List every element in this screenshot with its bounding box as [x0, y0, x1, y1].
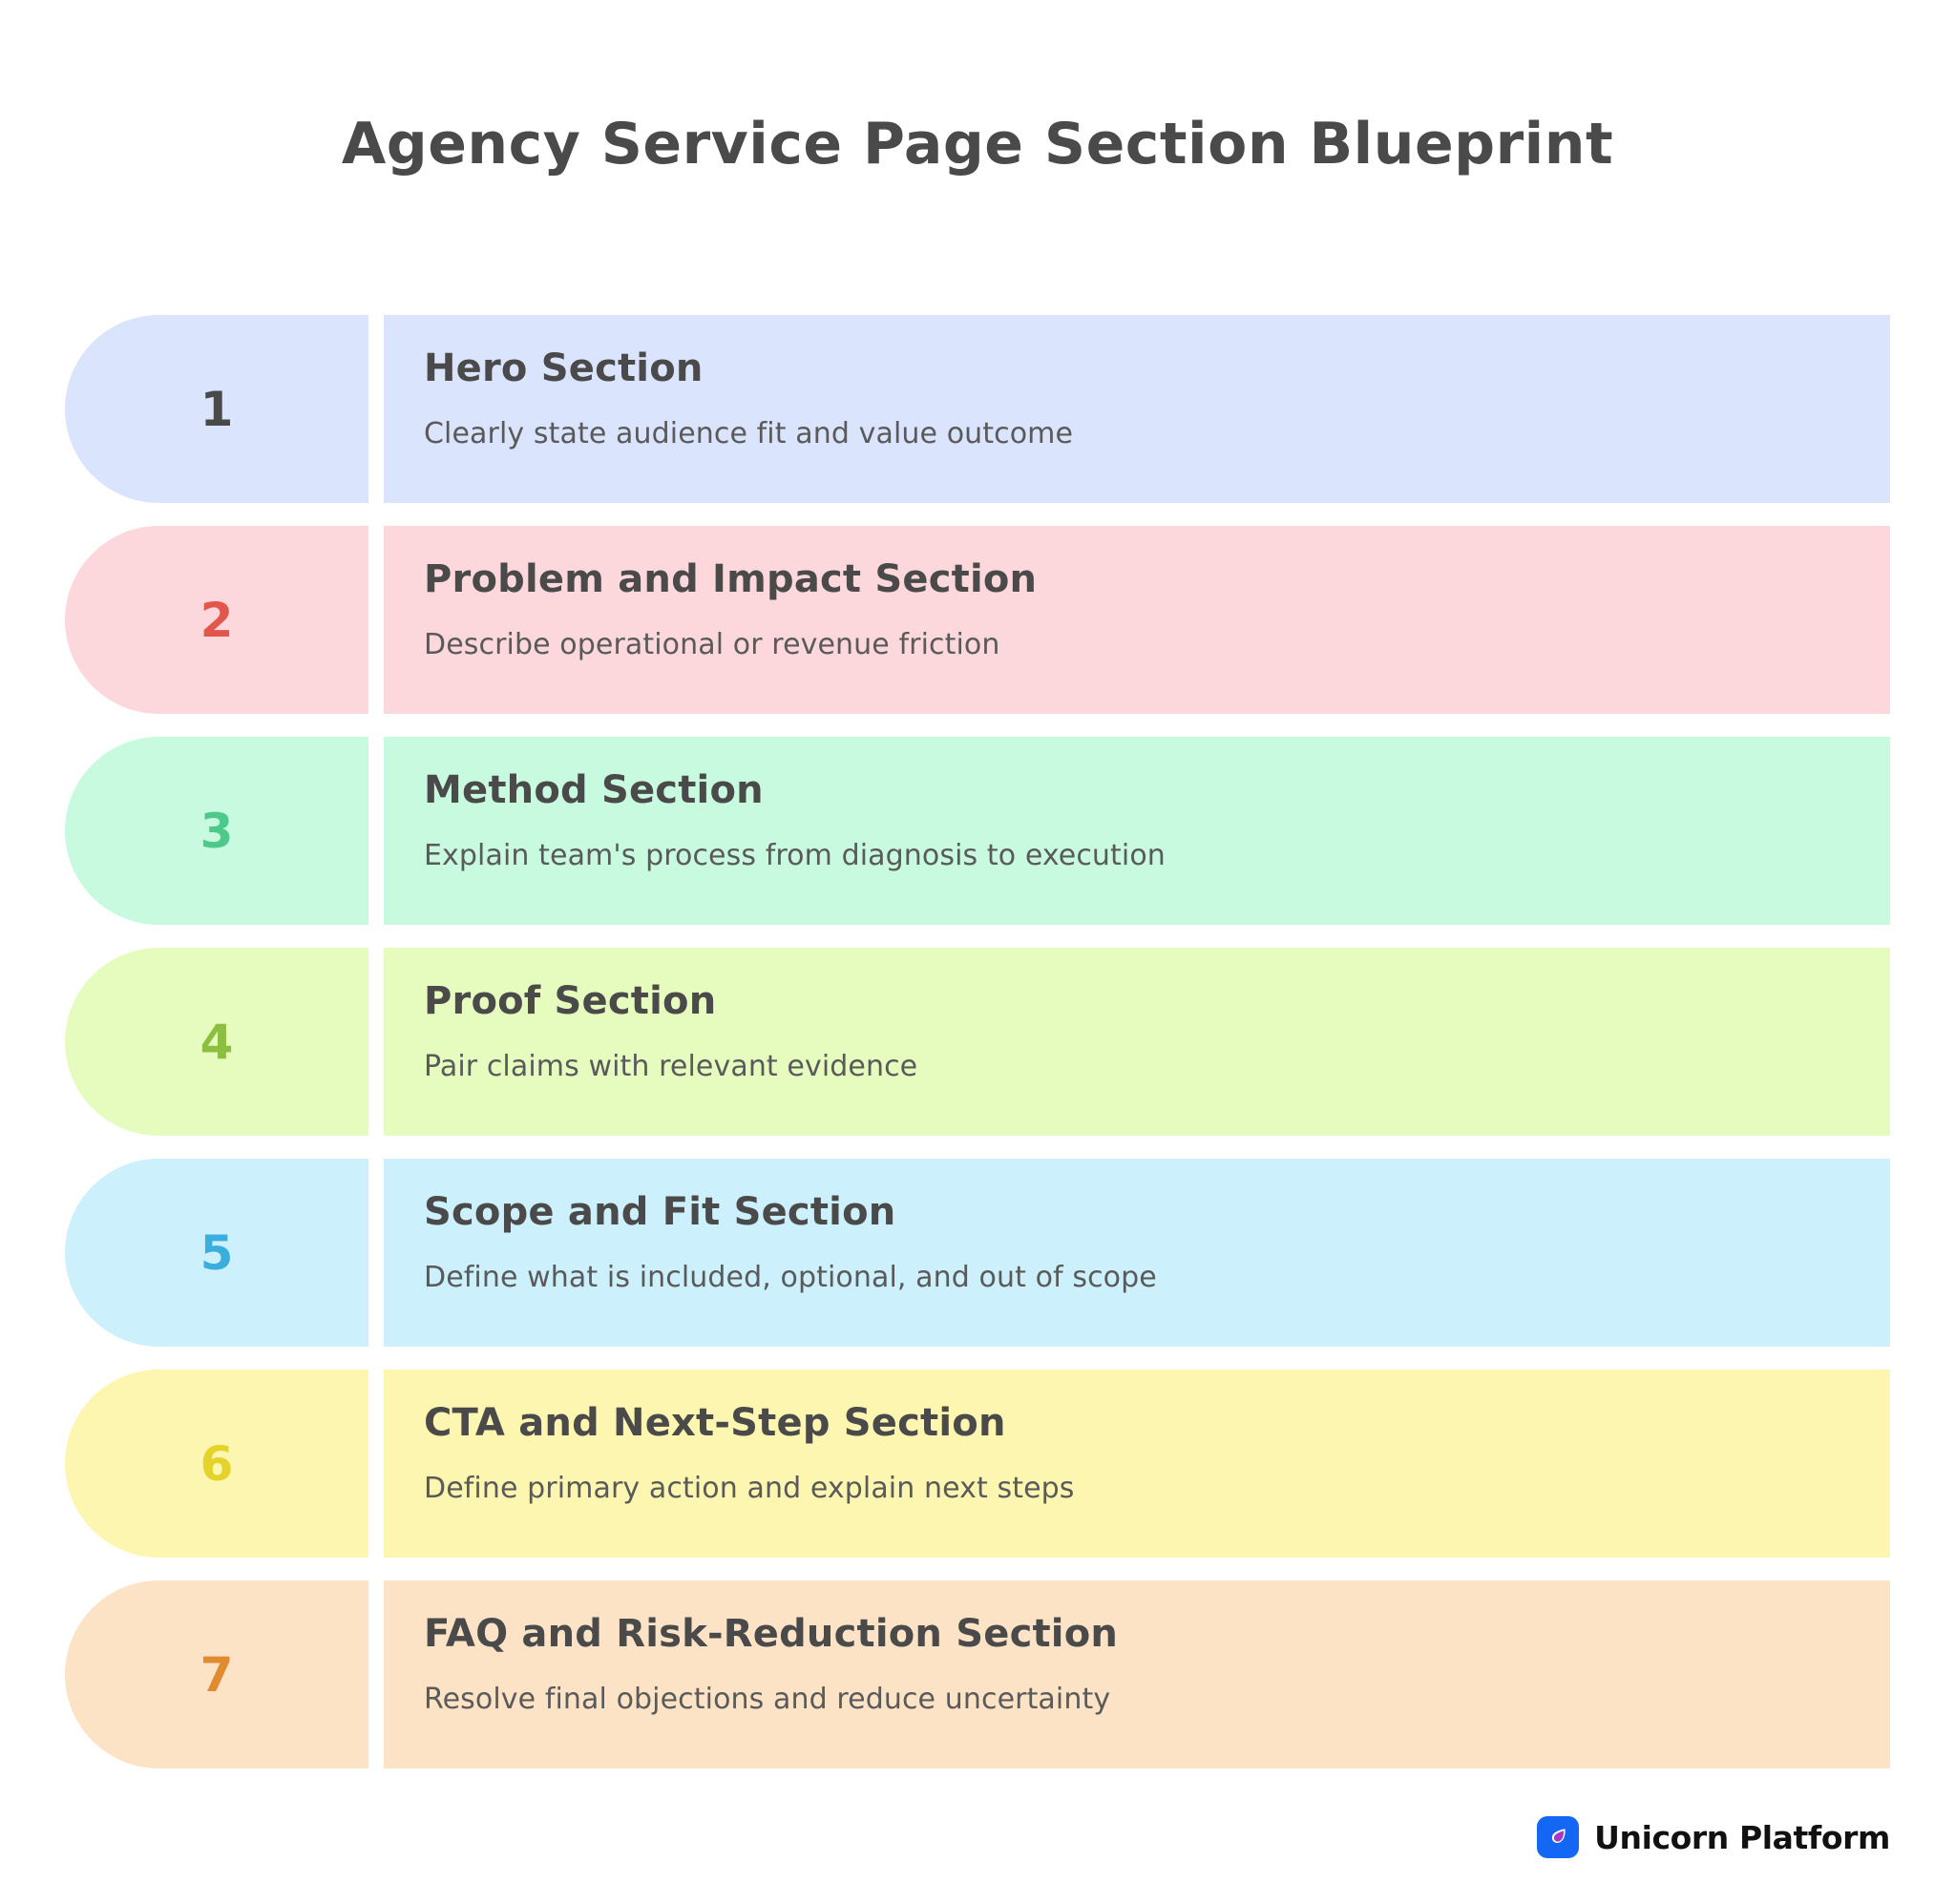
step-number-badge: 7: [65, 1580, 368, 1768]
row-divider: [368, 1159, 384, 1347]
step-number-label: 2: [200, 596, 234, 644]
row-divider: [368, 1580, 384, 1768]
step-content-panel: Problem and Impact SectionDescribe opera…: [384, 526, 1890, 714]
step-title: Hero Section: [424, 345, 1890, 391]
step-number-badge: 6: [65, 1370, 368, 1558]
step-title: Method Section: [424, 767, 1890, 813]
row-divider: [368, 737, 384, 925]
step-number-label: 5: [200, 1229, 234, 1277]
step-number-badge: 2: [65, 526, 368, 714]
step-description: Explain team's process from diagnosis to…: [424, 838, 1890, 874]
brand-name-label: Unicorn Platform: [1594, 1819, 1890, 1856]
step-number-label: 7: [200, 1651, 234, 1699]
blueprint-step-row: 6CTA and Next-Step SectionDefine primary…: [65, 1370, 1890, 1558]
step-title: Proof Section: [424, 978, 1890, 1024]
step-number-label: 3: [200, 807, 234, 855]
step-content-panel: Scope and Fit SectionDefine what is incl…: [384, 1159, 1890, 1347]
step-description: Describe operational or revenue friction: [424, 627, 1890, 663]
blueprint-step-row: 3Method SectionExplain team's process fr…: [65, 737, 1890, 925]
blueprint-step-row: 5Scope and Fit SectionDefine what is inc…: [65, 1159, 1890, 1347]
blueprint-step-row: 7FAQ and Risk-Reduction SectionResolve f…: [65, 1580, 1890, 1768]
blueprint-step-row: 4Proof SectionPair claims with relevant …: [65, 948, 1890, 1136]
page-title-container: Agency Service Page Section Blueprint: [0, 113, 1955, 176]
step-content-panel: FAQ and Risk-Reduction SectionResolve fi…: [384, 1580, 1890, 1768]
step-description: Define primary action and explain next s…: [424, 1471, 1890, 1507]
step-content-panel: CTA and Next-Step SectionDefine primary …: [384, 1370, 1890, 1558]
infographic-canvas: Agency Service Page Section Blueprint 1H…: [0, 0, 1955, 1904]
step-description: Resolve final objections and reduce unce…: [424, 1682, 1890, 1718]
step-number-label: 6: [200, 1440, 234, 1488]
step-content-panel: Hero SectionClearly state audience fit a…: [384, 315, 1890, 503]
step-description: Clearly state audience fit and value out…: [424, 416, 1890, 452]
blueprint-step-list: 1Hero SectionClearly state audience fit …: [65, 315, 1890, 1768]
step-number-label: 1: [200, 386, 234, 433]
step-number-badge: 1: [65, 315, 368, 503]
step-number-badge: 3: [65, 737, 368, 925]
step-title: FAQ and Risk-Reduction Section: [424, 1611, 1890, 1657]
step-title: Problem and Impact Section: [424, 556, 1890, 602]
step-number-label: 4: [200, 1018, 234, 1066]
step-title: CTA and Next-Step Section: [424, 1400, 1890, 1446]
step-number-badge: 5: [65, 1159, 368, 1347]
step-title: Scope and Fit Section: [424, 1189, 1890, 1235]
step-description: Define what is included, optional, and o…: [424, 1260, 1890, 1296]
brand-watermark: Unicorn Platform: [1537, 1816, 1890, 1858]
blueprint-step-row: 1Hero SectionClearly state audience fit …: [65, 315, 1890, 503]
step-description: Pair claims with relevant evidence: [424, 1049, 1890, 1085]
step-content-panel: Method SectionExplain team's process fro…: [384, 737, 1890, 925]
blueprint-step-row: 2Problem and Impact SectionDescribe oper…: [65, 526, 1890, 714]
row-divider: [368, 1370, 384, 1558]
step-content-panel: Proof SectionPair claims with relevant e…: [384, 948, 1890, 1136]
unicorn-platform-logo-icon: [1537, 1816, 1579, 1858]
row-divider: [368, 315, 384, 503]
step-number-badge: 4: [65, 948, 368, 1136]
row-divider: [368, 948, 384, 1136]
page-title: Agency Service Page Section Blueprint: [0, 113, 1955, 176]
row-divider: [368, 526, 384, 714]
